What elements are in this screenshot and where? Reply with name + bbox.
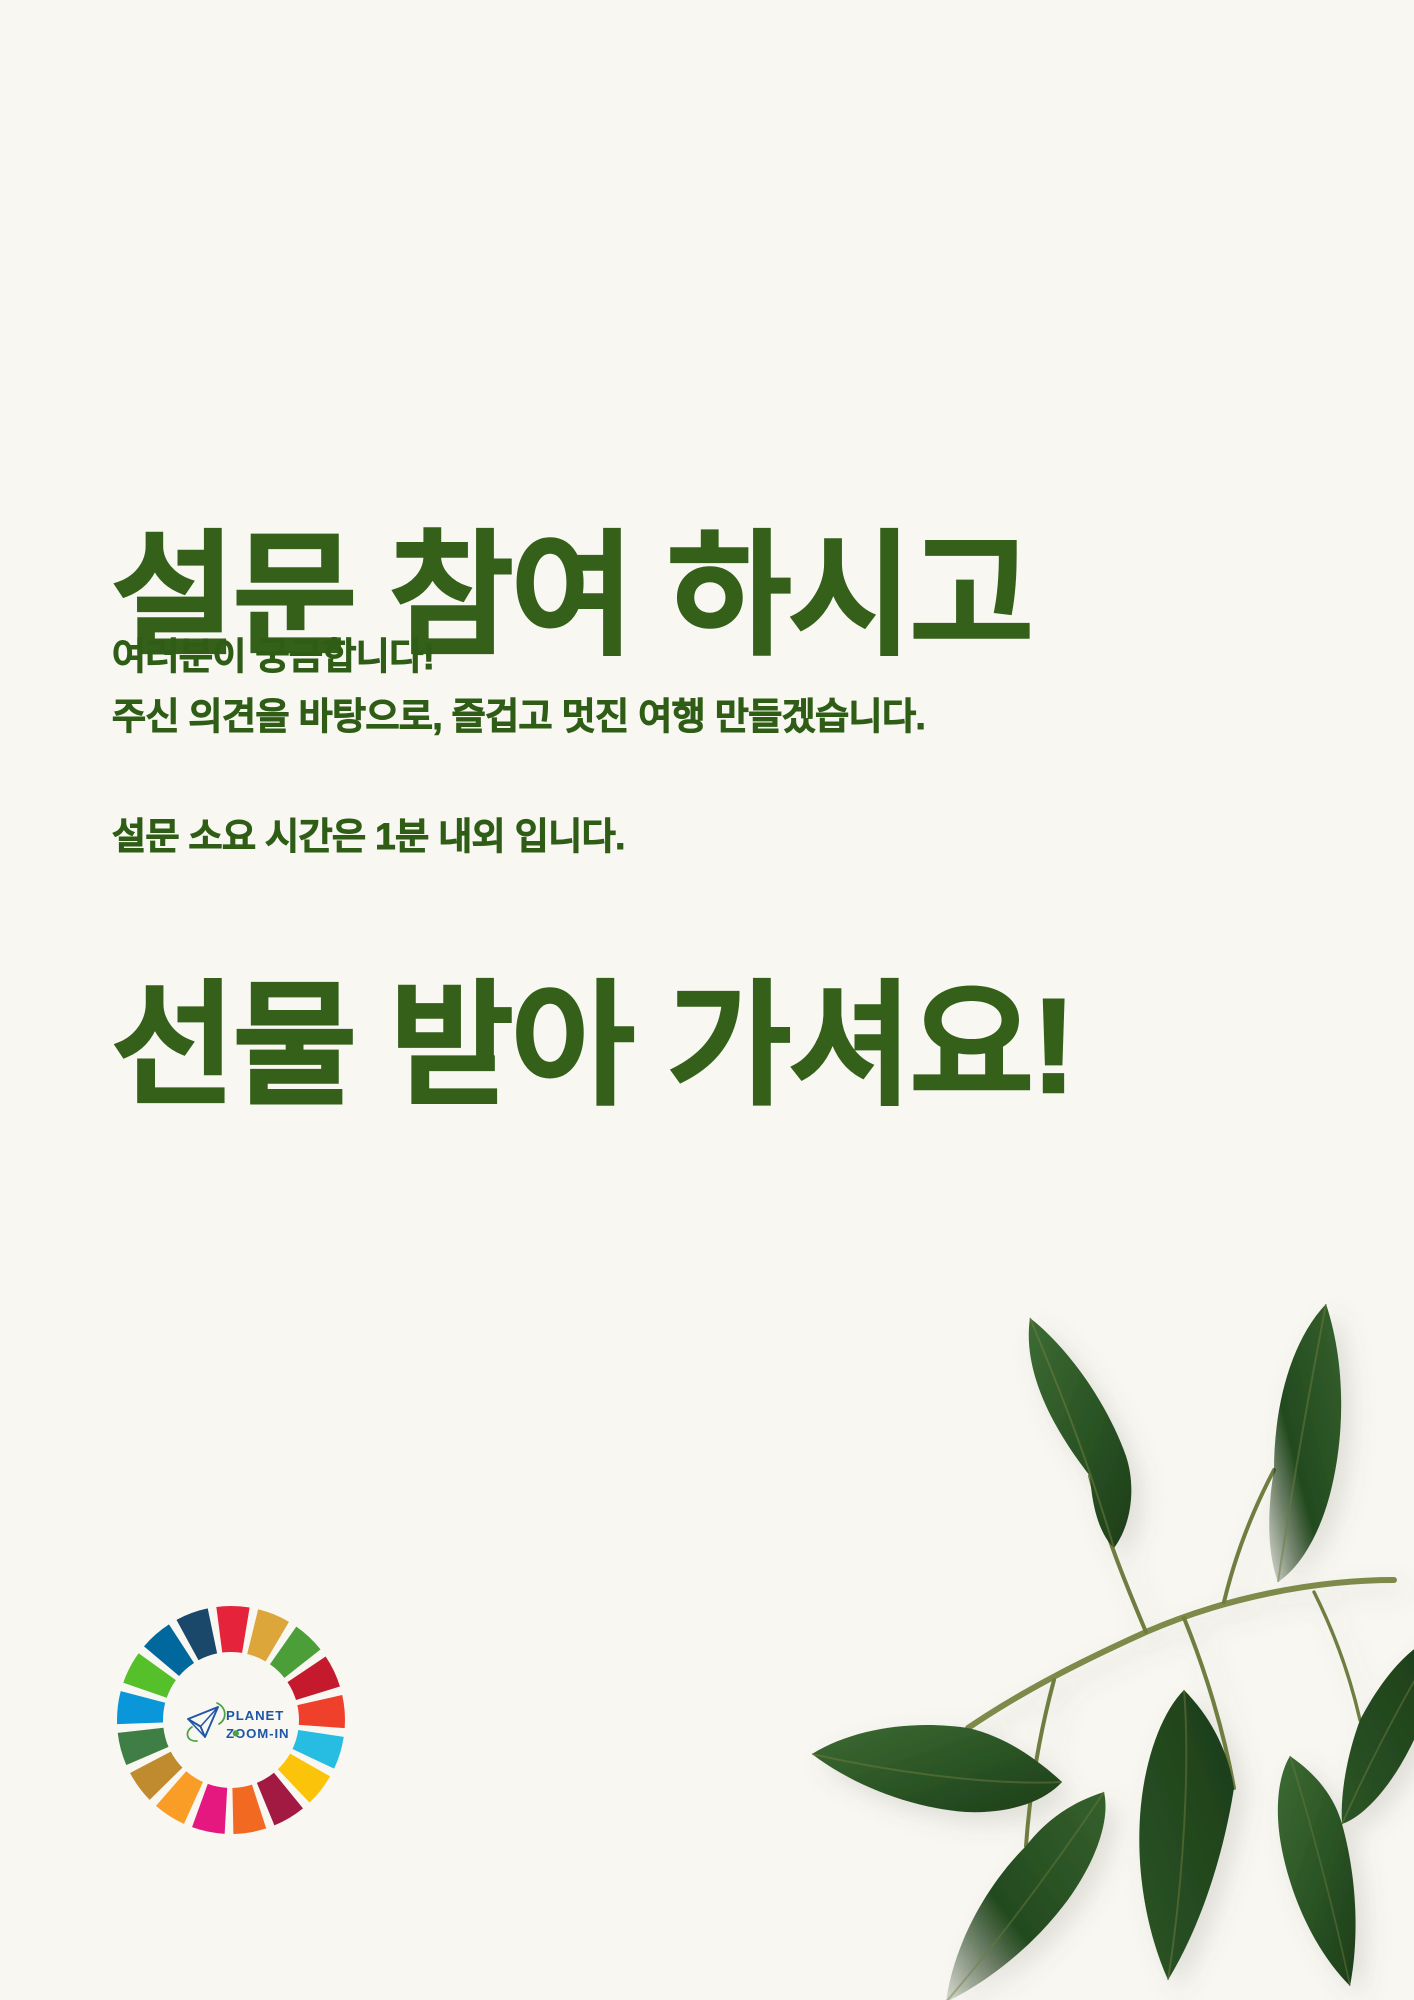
leaf: [1139, 1690, 1234, 1980]
sprig-branch-2: [1224, 1470, 1274, 1602]
leaf: [1278, 1756, 1356, 1986]
sprig-branch-4: [1184, 1618, 1234, 1788]
body-paragraph-2: 설문 소요 시간은 1분 내외 입니다.: [112, 807, 1232, 867]
leaf: [1269, 1304, 1341, 1582]
body-copy: 여러분이 궁금합니다! 주신 의견을 바탕으로, 즐겁고 멋진 여행 만들겠습니…: [112, 627, 1232, 867]
body-paragraph-1: 여러분이 궁금합니다! 주신 의견을 바탕으로, 즐겁고 멋진 여행 만들겠습니…: [112, 627, 1232, 747]
leaf: [812, 1725, 1062, 1812]
body-line-3: 설문 소요 시간은 1분 내외 입니다.: [112, 807, 1232, 867]
sdg-wheel-segment: [297, 1695, 345, 1728]
leaf: [946, 1792, 1106, 2000]
sprig-branch-3: [1026, 1680, 1054, 1846]
logo-text-planet: PLANET: [226, 1708, 284, 1723]
poster-canvas: 설문 참여 하시고 선물 받아 가셔요! 여러분이 궁금합니다! 주신 의견을 …: [0, 0, 1414, 2000]
headline-line-2: 선물 받아 가셔요!: [112, 972, 1232, 1122]
logo: PLANET ZOOM-IN: [113, 1602, 349, 1838]
paper-plane-icon: [187, 1703, 224, 1741]
sprig-branch-5: [1314, 1592, 1360, 1720]
sprig-stem: [968, 1580, 1394, 1728]
body-line-1: 여러분이 궁금합니다!: [112, 627, 1232, 687]
leaf: [1342, 1632, 1414, 1824]
logo-o-accent: [233, 1730, 239, 1736]
sdg-wheel-icon: PLANET ZOOM-IN: [113, 1602, 349, 1838]
sprig-branch-1: [1090, 1476, 1146, 1632]
sdg-wheel-segment: [117, 1691, 165, 1724]
body-spacer: [112, 747, 1232, 807]
sdg-wheel-segment: [216, 1606, 249, 1653]
body-line-2: 주신 의견을 바탕으로, 즐겁고 멋진 여행 만들겠습니다.: [112, 687, 1232, 747]
